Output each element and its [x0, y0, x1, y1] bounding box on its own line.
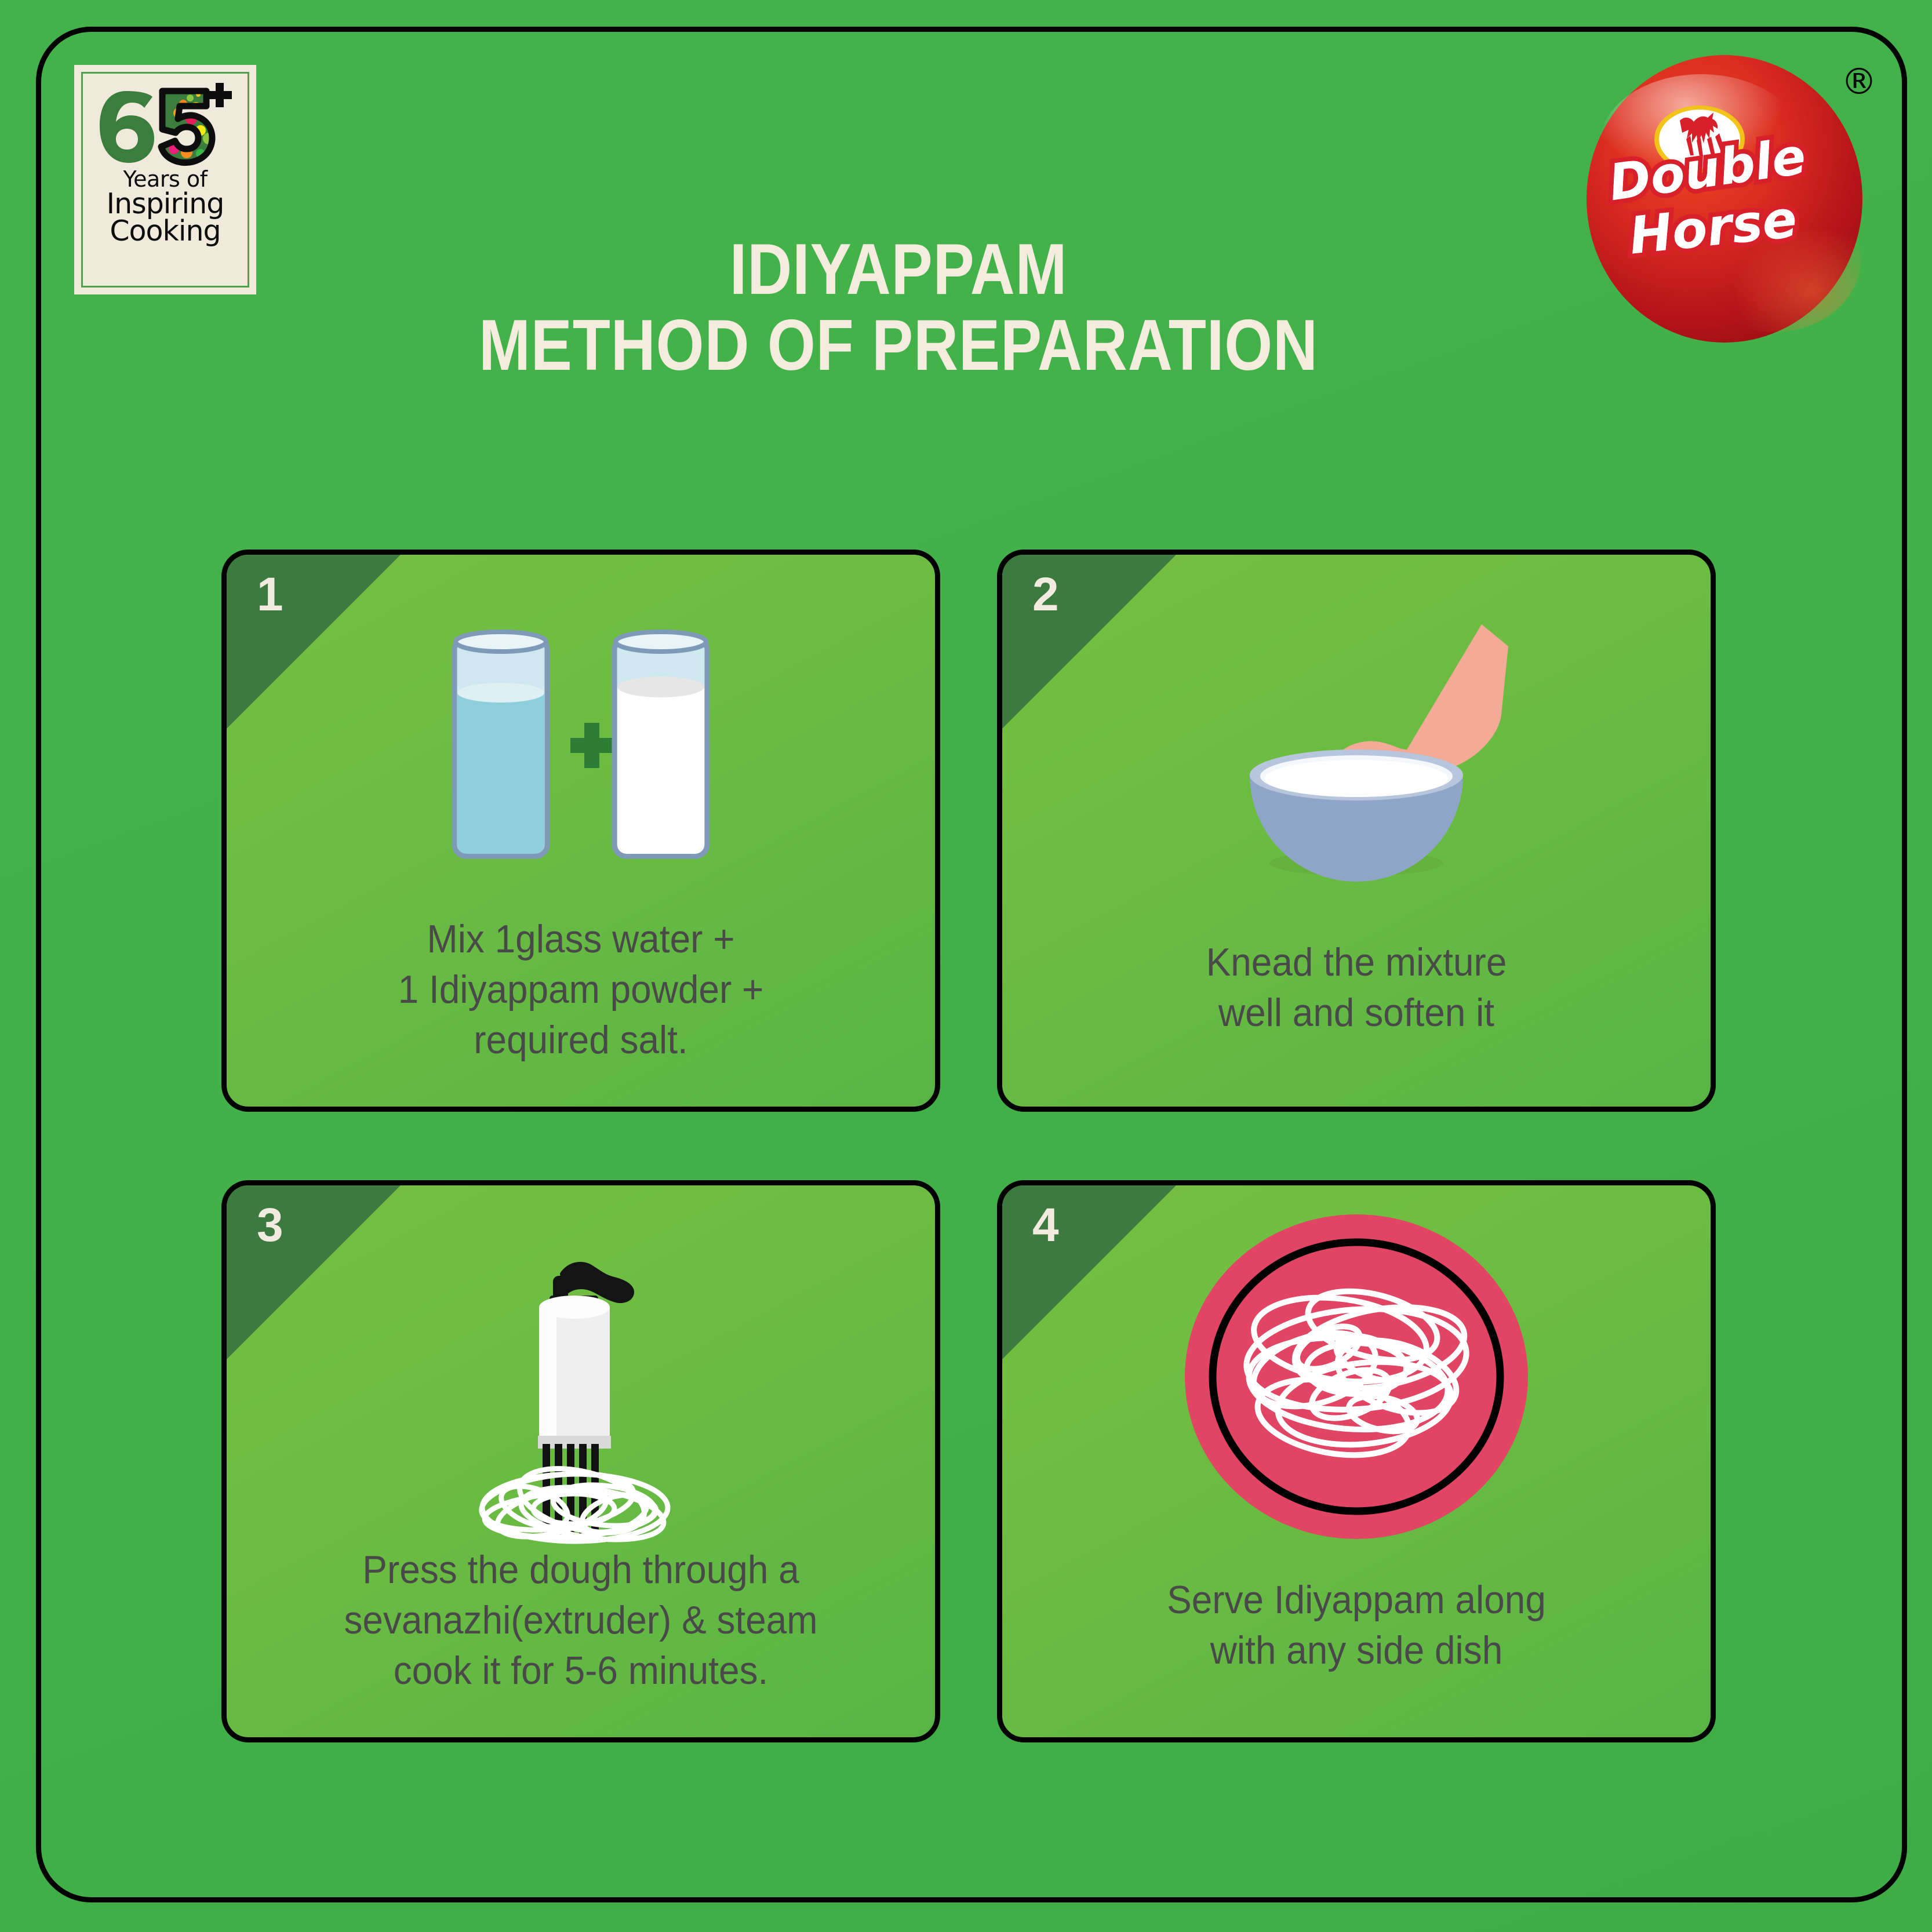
step-2-illustration — [1002, 590, 1711, 914]
bowl-icon — [1250, 749, 1463, 882]
anniversary-badge-inner: Years of Inspiring Cooking — [81, 72, 249, 288]
plus-sign-icon — [570, 723, 613, 768]
registered-trademark-icon: ® — [1841, 64, 1877, 100]
step-number-1: 1 — [257, 571, 283, 618]
double-horse-badge-icon: Double Double Horse Horse — [1577, 51, 1872, 347]
step-card-1[interactable]: 1 — [221, 550, 940, 1112]
caption-line: well and soften it — [1045, 988, 1667, 1038]
step-number-2: 2 — [1032, 571, 1059, 618]
sixty-five-plus-icon — [93, 81, 238, 168]
step-caption-3: Press the dough through a sevanazhi(extr… — [270, 1545, 892, 1696]
two-glasses-plus-icon — [419, 618, 743, 885]
caption-line: 1 Idiyappam powder + — [270, 965, 892, 1015]
infographic-poster: Years of Inspiring Cooking — [0, 0, 1932, 1932]
step-1-illustration — [227, 590, 935, 914]
step-card-4[interactable]: 4 — [997, 1180, 1716, 1742]
caption-line: required salt. — [270, 1015, 892, 1065]
powder-glass-icon — [614, 632, 707, 856]
water-glass-icon — [454, 632, 547, 856]
extruder-body-icon — [538, 1296, 611, 1449]
step-caption-4: Serve Idiyappam along with any side dish — [1045, 1575, 1667, 1676]
idiyappam-on-plate-icon — [1177, 1203, 1536, 1562]
badge-text-block: Years of Inspiring Cooking — [107, 169, 224, 245]
caption-line: cook it for 5-6 minutes. — [270, 1646, 892, 1696]
step-4-illustration — [1002, 1220, 1711, 1545]
caption-line: Press the dough through a — [270, 1545, 892, 1595]
step-card-3[interactable]: 3 — [221, 1180, 940, 1742]
step-caption-2: Knead the mixture well and soften it — [1045, 937, 1667, 1038]
badge-number-row — [83, 81, 248, 168]
badge-line-cooking: Cooking — [107, 217, 224, 245]
badge-line-inspiring: Inspiring — [107, 190, 224, 218]
caption-line: Knead the mixture — [1045, 937, 1667, 988]
title-line-dish-name: IDIYAPPAM — [335, 232, 1462, 308]
plate-icon — [1185, 1214, 1528, 1539]
step-number-3: 3 — [257, 1202, 283, 1249]
caption-line: Serve Idiyappam along — [1045, 1575, 1667, 1625]
caption-line: sevanazhi(extruder) & steam — [270, 1595, 892, 1646]
page-title: IDIYAPPAM METHOD OF PREPARATION — [243, 232, 1553, 384]
caption-line: Mix 1glass water + — [270, 914, 892, 965]
double-horse-logo: Double Double Horse Horse — [1577, 51, 1872, 347]
anniversary-badge: Years of Inspiring Cooking — [74, 65, 256, 294]
title-line-subtitle: METHOD OF PREPARATION — [335, 308, 1462, 384]
steps-grid: 1 — [221, 550, 1716, 1744]
step-3-illustration — [227, 1220, 935, 1545]
caption-line: with any side dish — [1045, 1625, 1667, 1676]
step-caption-1: Mix 1glass water + 1 Idiyappam powder + … — [270, 914, 892, 1065]
step-number-4: 4 — [1032, 1202, 1059, 1249]
hand-kneading-bowl-icon — [1154, 601, 1559, 903]
step-card-2[interactable]: 2 — [997, 550, 1716, 1112]
sevanazhi-extruder-icon — [419, 1220, 743, 1545]
